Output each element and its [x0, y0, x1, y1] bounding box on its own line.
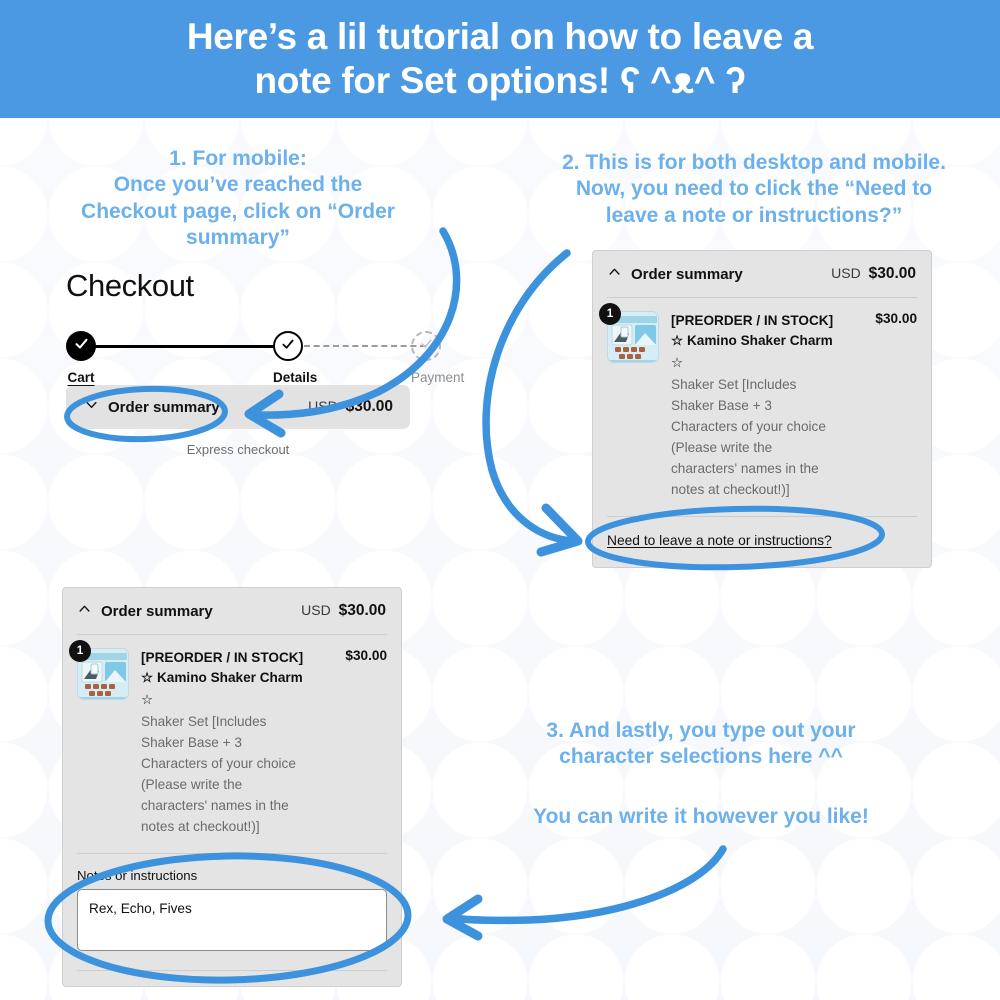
- notes-field-label: Notes or instructions: [77, 868, 387, 883]
- line-item-thumbnail-wrap: 1: [77, 648, 129, 837]
- checkout-mock: Checkout Cart Details: [66, 268, 410, 457]
- currency-code: USD: [831, 265, 861, 281]
- order-summary-panel-header-left: Order summary: [77, 601, 213, 621]
- check-icon: [420, 337, 433, 355]
- total-amount: $30.00: [339, 602, 386, 619]
- order-summary-toggle-collapsed[interactable]: Order summary USD $30.00: [66, 385, 410, 429]
- express-checkout-label: Express checkout: [66, 442, 410, 457]
- divider: [77, 970, 387, 971]
- instruction-step-3-note: You can write it however you like!: [486, 804, 916, 830]
- line-item-description: Shaker Set [Includes Shaker Base + 3 Cha…: [141, 711, 387, 837]
- line-item-description: Shaker Set [Includes Shaker Base + 3 Cha…: [671, 374, 917, 500]
- order-summary-panel-header[interactable]: Order summary USD $30.00: [593, 251, 931, 297]
- quantity-badge: 1: [69, 640, 91, 662]
- order-summary-label: Order summary: [101, 603, 213, 620]
- line-item-top-row: [PREORDER / IN STOCK] ☆ Kamino Shaker Ch…: [671, 311, 917, 352]
- line-item-variant: ☆: [671, 352, 917, 373]
- order-summary-panel-header[interactable]: Order summary USD $30.00: [63, 588, 401, 634]
- notes-field-group: Notes or instructions: [63, 854, 401, 956]
- line-item: 1: [63, 635, 401, 849]
- total-amount: $30.00: [346, 398, 393, 415]
- stepper-step-details[interactable]: Details: [273, 331, 317, 385]
- checkout-progress-stepper: Cart Details Payment: [66, 331, 410, 377]
- stepper-step-cart[interactable]: Cart: [66, 331, 96, 385]
- stepper-dot-cart: [66, 331, 96, 361]
- chevron-up-icon: [607, 264, 622, 284]
- page-title: Here’s a lil tutorial on how to leave a …: [147, 15, 853, 102]
- order-summary-total: USD $30.00: [308, 398, 393, 416]
- order-summary-panel-step2: Order summary USD $30.00 1: [592, 250, 932, 568]
- stepper-dot-details: [273, 331, 303, 361]
- line-item: 1: [593, 298, 931, 512]
- line-item-body: [PREORDER / IN STOCK] ☆ Kamino Shaker Ch…: [141, 648, 387, 837]
- checkout-heading: Checkout: [66, 268, 410, 304]
- stepper-track-completed: [80, 345, 288, 348]
- instruction-step-1: 1. For mobile: Once you’ve reached the C…: [48, 146, 428, 251]
- check-icon: [281, 337, 295, 356]
- order-summary-label: Order summary: [631, 266, 743, 283]
- line-item-title: [PREORDER / IN STOCK] ☆ Kamino Shaker Ch…: [141, 648, 303, 689]
- order-summary-total: USD $30.00: [831, 265, 916, 283]
- chevron-down-icon: [84, 397, 99, 417]
- chevron-up-icon: [77, 601, 92, 621]
- line-item-thumbnail-wrap: 1: [607, 311, 659, 500]
- stepper-label-payment: Payment: [411, 370, 464, 385]
- order-summary-panel-header-left: Order summary: [607, 264, 743, 284]
- currency-code: USD: [308, 398, 338, 414]
- instruction-step-2: 2. This is for both desktop and mobile. …: [508, 150, 1000, 229]
- line-item-variant: ☆: [141, 689, 387, 710]
- note-link[interactable]: Need to leave a note or instructions?: [593, 517, 846, 562]
- instruction-step-3: 3. And lastly, you type out your charact…: [486, 718, 916, 771]
- order-summary-toggle-left: Order summary: [84, 397, 220, 417]
- stepper-label-cart: Cart: [66, 370, 96, 385]
- line-item-price: $30.00: [875, 311, 917, 326]
- stepper-label-details: Details: [273, 370, 317, 385]
- total-amount: $30.00: [869, 265, 916, 282]
- check-icon: [74, 336, 89, 356]
- order-summary-label: Order summary: [108, 399, 220, 416]
- header-banner: Here’s a lil tutorial on how to leave a …: [0, 0, 1000, 118]
- stepper-step-payment[interactable]: Payment: [411, 331, 464, 385]
- line-item-price: $30.00: [345, 648, 387, 663]
- order-summary-total: USD $30.00: [301, 602, 386, 620]
- quantity-badge: 1: [599, 303, 621, 325]
- order-summary-panel-step3: Order summary USD $30.00 1: [62, 587, 402, 987]
- stepper-track-upcoming: [304, 345, 426, 347]
- notes-input[interactable]: [77, 889, 387, 951]
- line-item-title: [PREORDER / IN STOCK] ☆ Kamino Shaker Ch…: [671, 311, 833, 352]
- currency-code: USD: [301, 602, 331, 618]
- line-item-top-row: [PREORDER / IN STOCK] ☆ Kamino Shaker Ch…: [141, 648, 387, 689]
- stepper-dot-payment: [411, 331, 441, 361]
- line-item-body: [PREORDER / IN STOCK] ☆ Kamino Shaker Ch…: [671, 311, 917, 500]
